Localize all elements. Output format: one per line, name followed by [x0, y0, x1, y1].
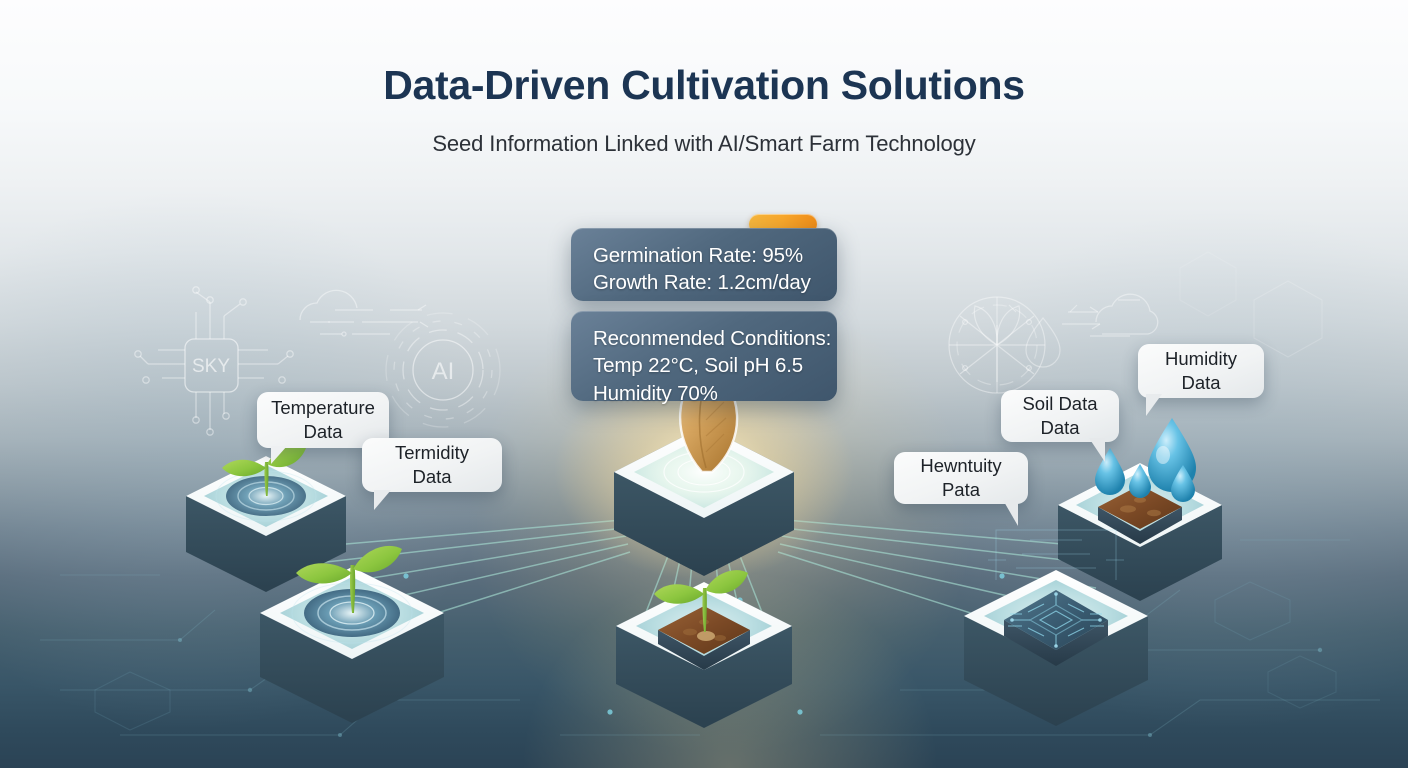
circuit-nodes	[178, 618, 1322, 737]
conditions-humidity-text: Humidity 70%	[593, 380, 817, 407]
callout-line-1: Temperature	[271, 396, 375, 420]
hex-watermark-group	[1180, 252, 1322, 357]
platform-circuit-chip	[964, 530, 1148, 726]
seedling-icon	[654, 570, 748, 632]
panel-seed-metrics: Germination Rate: 95% Growth Rate: 1.2cm…	[571, 228, 837, 301]
connection-lines	[300, 520, 1108, 656]
seed-in-soil	[697, 631, 715, 641]
ripple-rings	[216, 471, 316, 521]
callout-tail	[1146, 394, 1162, 416]
callout-line-2: Data	[412, 465, 451, 489]
droplet-outline-icon	[1009, 305, 1077, 367]
ai-badge-label: AI	[432, 358, 455, 385]
callout-line-2: Data	[1040, 416, 1079, 440]
ripple-rings	[292, 583, 412, 643]
circuit-chip-icon	[1004, 590, 1108, 666]
panel-recommended-conditions: Reconmended Conditions: Temp 22°C, Soil …	[571, 311, 837, 401]
growth-rate-text: Growth Rate: 1.2cm/day	[593, 269, 817, 296]
soil-block-icon	[658, 606, 750, 670]
callout-line-1: Humidity	[1165, 347, 1237, 371]
cloud-wind-icon-right	[1062, 294, 1158, 336]
chip-sky-label: SKY	[192, 356, 230, 377]
platform-soil-upper	[1058, 463, 1222, 601]
callout-line-2: Data	[1181, 371, 1220, 395]
callout-line-2: Data	[303, 420, 342, 444]
callout-humidity-data: Humidity Data	[1138, 344, 1264, 398]
page-subtitle: Seed Information Linked with AI/Smart Fa…	[0, 131, 1408, 157]
germination-rate-text: Germination Rate: 95%	[593, 242, 817, 269]
callout-line-1: Soil Data	[1022, 392, 1097, 416]
callout-tail	[1003, 500, 1018, 526]
callout-tail	[1089, 438, 1105, 462]
callout-termidity-data: Termidity Data	[362, 438, 502, 492]
water-drop-icon-large	[1148, 418, 1196, 492]
callout-soil-data: Soil Data Data	[1001, 390, 1119, 442]
callout-hewntuity-pata: Hewntuity Pata	[894, 452, 1028, 504]
infographic-canvas: SKY AI	[0, 0, 1408, 768]
page-title: Data-Driven Cultivation Solutions	[0, 62, 1408, 109]
seedling-icon	[296, 546, 402, 613]
water-drop-icon-small-2	[1171, 465, 1195, 502]
plant-circle-diagram-icon	[949, 297, 1045, 393]
chip-hologram	[988, 530, 1124, 580]
callout-tail	[271, 446, 287, 464]
platform-sprout-soil	[616, 570, 792, 728]
seedling-icon	[222, 446, 306, 496]
header: Data-Driven Cultivation Solutions Seed I…	[0, 62, 1408, 157]
platform-seedling-upper	[186, 446, 346, 592]
circuit-traces	[40, 540, 1380, 735]
cloud-wind-icon	[300, 290, 428, 336]
conditions-temp-ph-text: Temp 22°C, Soil pH 6.5	[593, 352, 817, 379]
platform-seedling-lower	[260, 546, 444, 723]
callout-tail	[374, 490, 391, 510]
ai-badge-icon: AI	[386, 313, 500, 427]
soil-block-icon	[1098, 485, 1182, 544]
connection-nodes	[297, 545, 1111, 715]
ambient-glow-bottom	[520, 568, 940, 768]
conditions-heading-text: Reconmended Conditions:	[593, 325, 817, 352]
callout-line-1: Hewntuity	[920, 454, 1001, 478]
callout-line-2: Pata	[942, 478, 980, 502]
callout-line-1: Termidity	[395, 441, 469, 465]
water-drop-icon-small	[1129, 464, 1151, 498]
